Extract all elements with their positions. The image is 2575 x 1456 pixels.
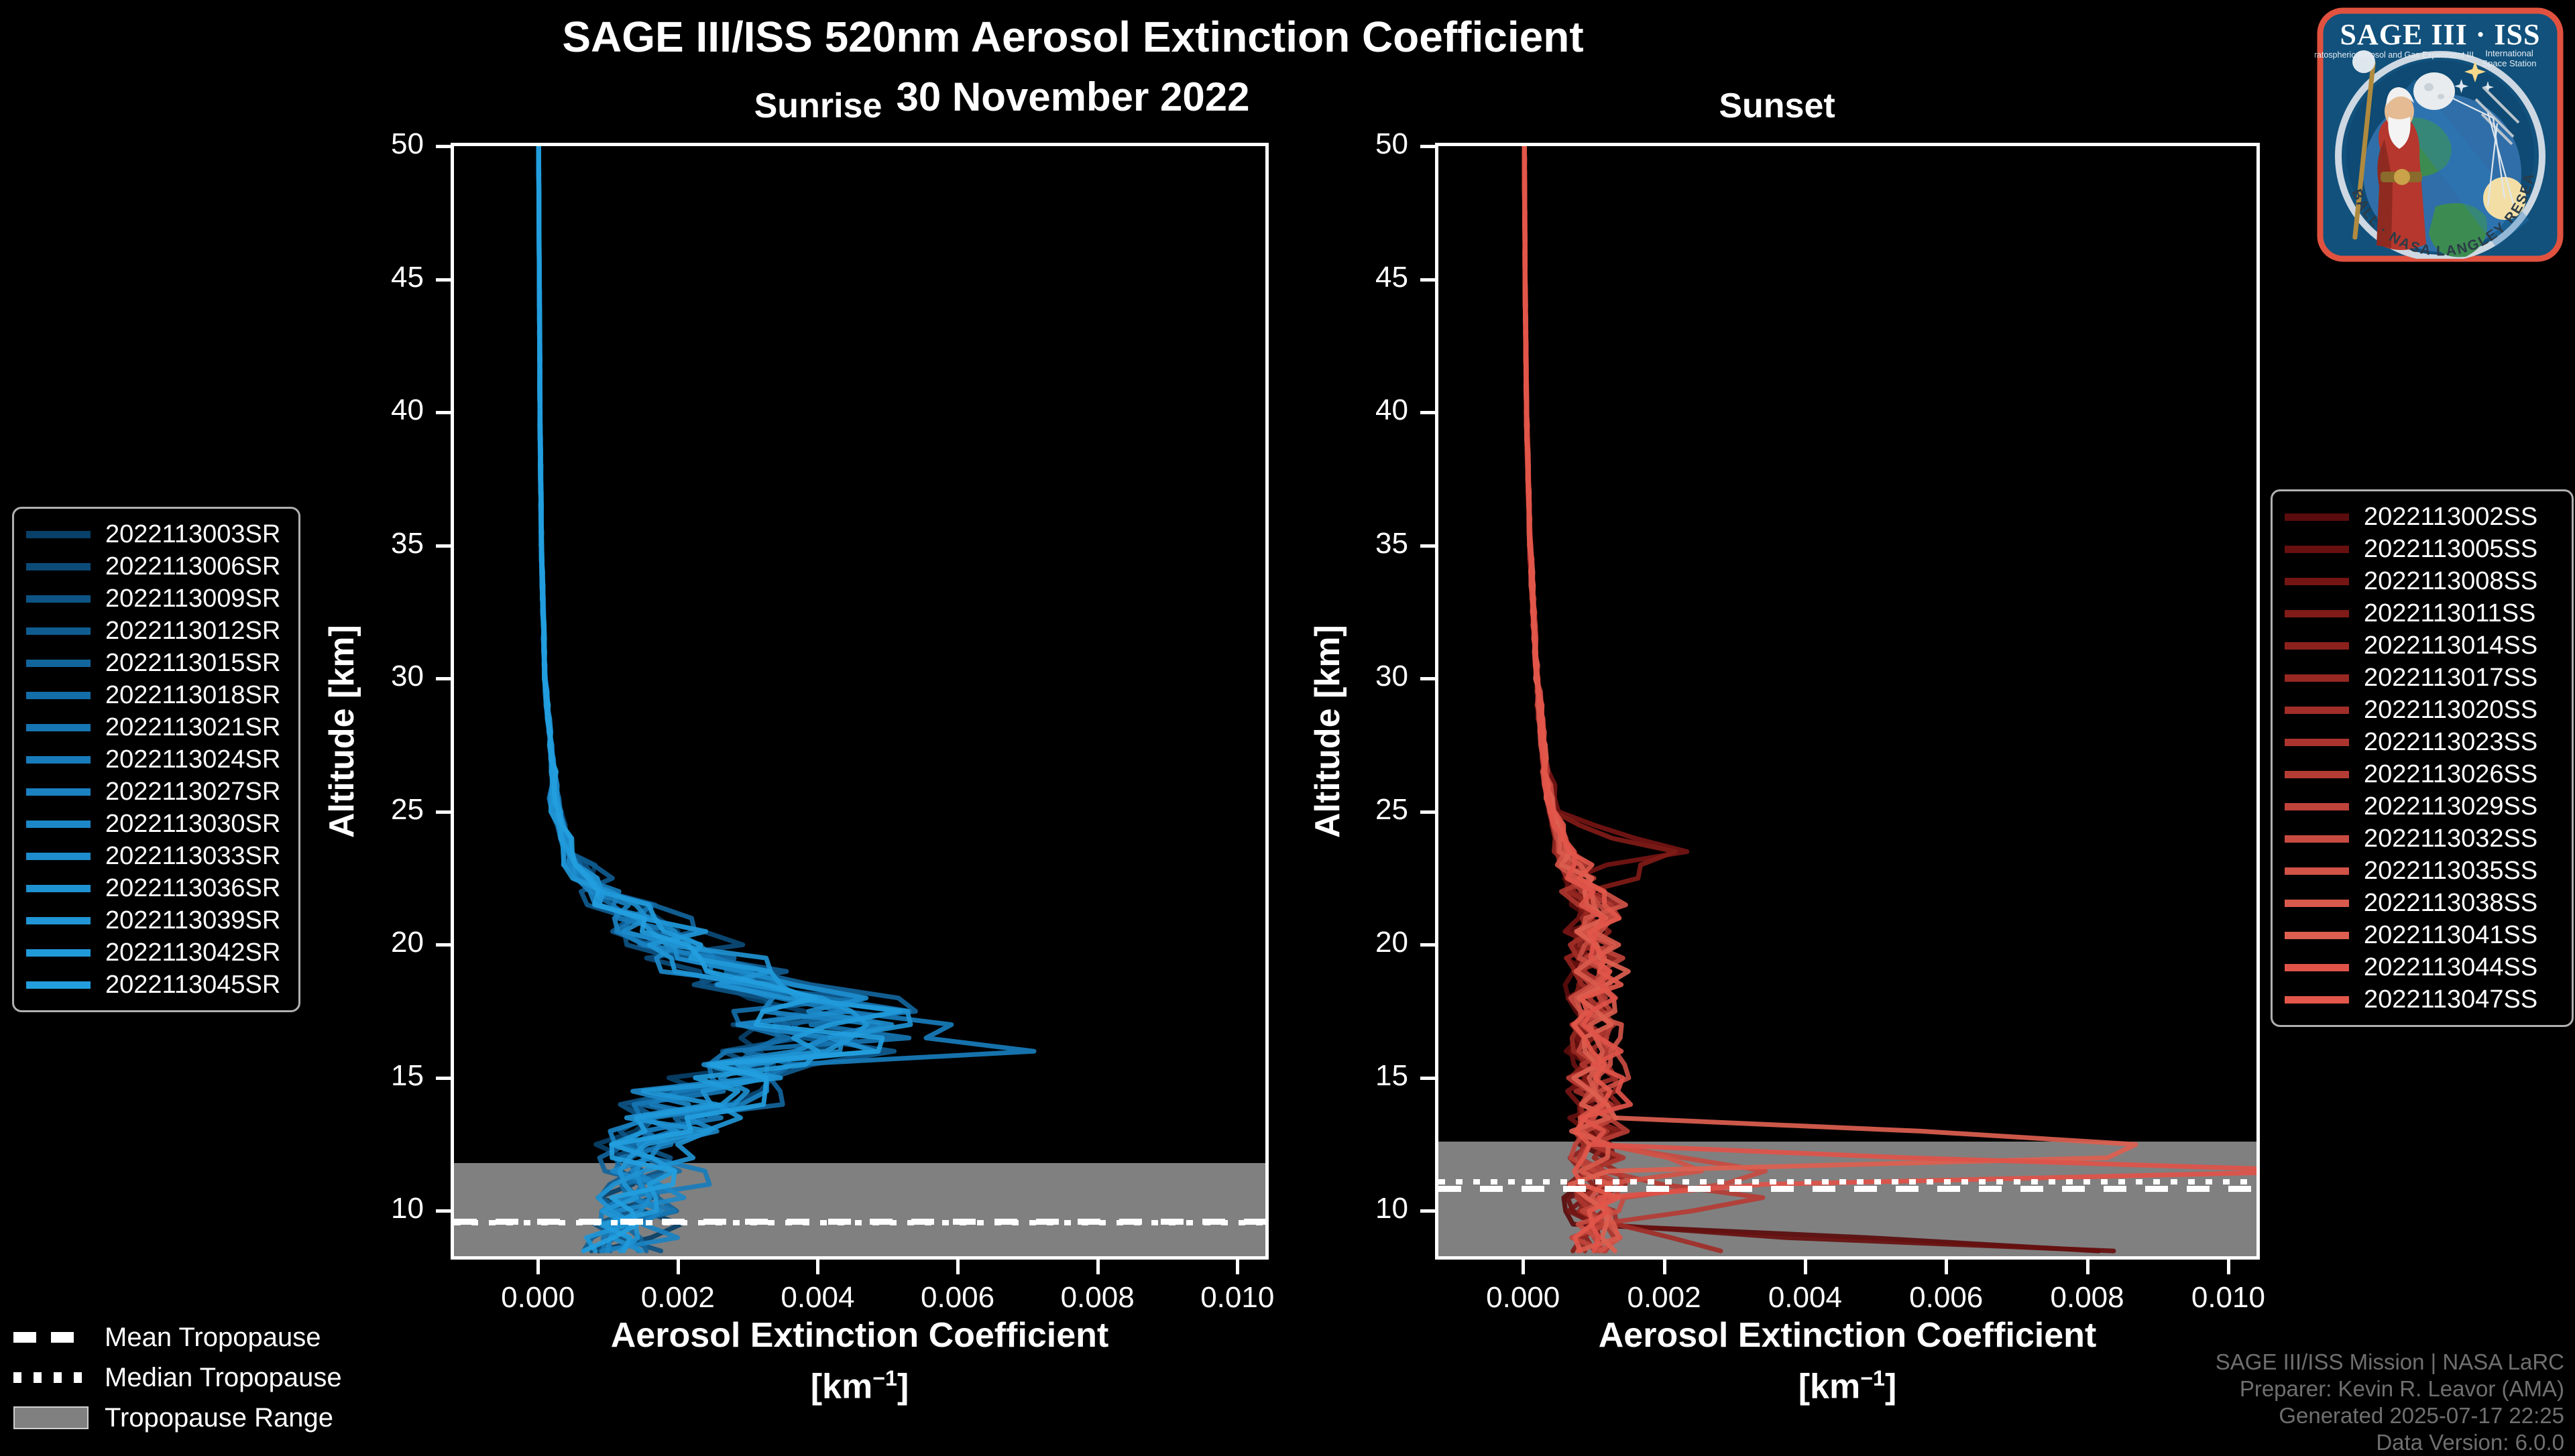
legend-item-mean-tropopause: Mean Tropopause: [13, 1317, 389, 1357]
y-tick-label: 35: [1308, 527, 1408, 560]
legend-event-label: 2022113036SR: [105, 874, 280, 903]
sunset-legend-item[interactable]: 2022113008SS: [2285, 565, 2560, 597]
sunset-legend-item[interactable]: 2022113011SS: [2285, 597, 2560, 629]
mean-tropopause-line: [1438, 1186, 2256, 1192]
profile-line: [538, 146, 1034, 1251]
y-tick-mark: [1420, 544, 1435, 548]
x-tick-label: 0.010: [2141, 1281, 2315, 1315]
legend-event-label: 2022113008SS: [2364, 567, 2537, 596]
page-title: SAGE III/ISS 520nm Aerosol Extinction Co…: [0, 12, 2146, 62]
sunrise-legend-item[interactable]: 2022113030SR: [26, 808, 286, 840]
sunset-legend-item[interactable]: 2022113044SS: [2285, 951, 2560, 983]
sunrise-legend-item[interactable]: 2022113018SR: [26, 679, 286, 711]
legend-color-swatch: [2285, 900, 2349, 907]
dashed-line-icon: [13, 1332, 89, 1343]
legend-event-label: 2022113027SR: [105, 778, 280, 806]
sunrise-legend: 2022113003SR2022113006SR2022113009SR2022…: [12, 507, 300, 1012]
sunrise-legend-item[interactable]: 2022113042SR: [26, 936, 286, 969]
x-tick-mark: [2227, 1260, 2230, 1274]
y-tick-mark: [436, 810, 451, 814]
legend-color-swatch: [2285, 932, 2349, 939]
sunset-yaxis-label: Altitude [km]: [1308, 625, 1348, 838]
svg-text:Space Station: Space Station: [2482, 58, 2537, 68]
y-tick-label: 45: [1308, 261, 1408, 294]
legend-event-label: 2022113018SR: [105, 681, 280, 710]
y-tick-mark: [436, 544, 451, 548]
sunrise-profile-curves: [454, 146, 1265, 1256]
svg-text:SAGE III · ISS: SAGE III · ISS: [2340, 18, 2541, 51]
x-tick-mark: [2086, 1260, 2090, 1274]
median-tropopause-line: [1438, 1179, 2256, 1185]
y-tick-mark: [436, 278, 451, 282]
sunrise-legend-item[interactable]: 2022113015SR: [26, 647, 286, 679]
y-tick-label: 45: [323, 261, 424, 294]
credit-line-generated: Generated 2025-07-17 22:25: [2216, 1402, 2564, 1429]
sunrise-plot-panel: [451, 143, 1269, 1260]
legend-color-swatch: [26, 885, 91, 892]
y-tick-mark: [436, 1209, 451, 1213]
legend-color-swatch: [2285, 610, 2349, 617]
legend-event-label: 2022113003SR: [105, 520, 280, 549]
sunrise-legend-item[interactable]: 2022113012SR: [26, 615, 286, 647]
y-tick-label: 15: [1308, 1059, 1408, 1093]
svg-text:Stratospheric Aerosol and Gas: Stratospheric Aerosol and Gas Experiment…: [2315, 50, 2474, 60]
y-tick-mark: [1420, 810, 1435, 814]
y-tick-label: 40: [1308, 393, 1408, 427]
profile-line: [1524, 146, 1721, 1251]
sunrise-legend-item[interactable]: 2022113009SR: [26, 583, 286, 615]
legend-event-label: 2022113038SS: [2364, 889, 2537, 918]
legend-event-label: 2022113026SS: [2364, 760, 2537, 789]
legend-color-swatch: [2285, 835, 2349, 843]
legend-event-label: 2022113020SS: [2364, 696, 2537, 725]
credit-line-preparer: Preparer: Kevin R. Leavor (AMA): [2216, 1376, 2564, 1402]
sunset-legend-item[interactable]: 2022113017SS: [2285, 662, 2560, 694]
legend-color-swatch: [2285, 996, 2349, 1004]
sunrise-xaxis-label: Aerosol Extinction Coefficient: [451, 1315, 1269, 1355]
sunrise-xaxis-unit: [km−1]: [451, 1366, 1269, 1406]
legend-event-label: 2022113005SS: [2364, 535, 2537, 564]
legend-event-label: 2022113029SS: [2364, 792, 2537, 821]
sunset-legend-item[interactable]: 2022113014SS: [2285, 629, 2560, 662]
legend-event-label: 2022113032SS: [2364, 825, 2537, 853]
y-tick-label: 40: [323, 393, 424, 427]
dotted-line-icon: [13, 1372, 89, 1383]
sunrise-legend-item[interactable]: 2022113027SR: [26, 776, 286, 808]
legend-label-tropopause-range: Tropopause Range: [105, 1403, 333, 1433]
sage-iii-iss-mission-patch-logo: BALL · NASA LANGLEY RESEARCH CENTER · TA…: [2315, 5, 2566, 264]
y-tick-mark: [1420, 1209, 1435, 1213]
tropopause-legend: Mean Tropopause Median Tropopause Tropop…: [13, 1317, 389, 1438]
sunset-plot-panel: [1435, 143, 2260, 1260]
shaded-band-icon: [13, 1406, 89, 1429]
legend-event-label: 2022113011SS: [2364, 599, 2535, 628]
legend-color-swatch: [26, 627, 91, 635]
profile-line: [1524, 146, 2256, 1251]
sunrise-legend-item[interactable]: 2022113039SR: [26, 904, 286, 936]
sunrise-legend-item[interactable]: 2022113021SR: [26, 711, 286, 743]
x-tick-mark: [1522, 1260, 1525, 1274]
y-tick-label: 10: [1308, 1192, 1408, 1225]
sunset-legend: 2022113002SS2022113005SS2022113008SS2022…: [2271, 489, 2574, 1027]
credit-line-mission: SAGE III/ISS Mission | NASA LaRC: [2216, 1349, 2564, 1376]
legend-event-label: 2022113014SS: [2364, 631, 2537, 660]
legend-event-label: 2022113021SR: [105, 713, 280, 742]
y-tick-mark: [436, 145, 451, 148]
legend-event-label: 2022113006SR: [105, 552, 280, 581]
legend-color-swatch: [2285, 964, 2349, 971]
legend-color-swatch: [2285, 707, 2349, 714]
legend-event-label: 2022113033SR: [105, 842, 280, 871]
x-tick-mark: [1804, 1260, 1807, 1274]
sunrise-legend-item[interactable]: 2022113006SR: [26, 550, 286, 583]
profile-line: [538, 146, 899, 1251]
x-tick-mark: [1236, 1260, 1239, 1274]
legend-event-label: 2022113017SS: [2364, 664, 2537, 692]
legend-event-label: 2022113009SR: [105, 585, 280, 613]
x-tick-mark: [1096, 1260, 1100, 1274]
legend-color-swatch: [26, 595, 91, 603]
x-tick-label: 0.010: [1150, 1281, 1324, 1315]
legend-color-swatch: [26, 949, 91, 957]
sunrise-panel-label: Sunrise: [630, 86, 1006, 126]
credit-line-dataversion: Data Version: 6.0.0: [2216, 1429, 2564, 1456]
legend-item-median-tropopause: Median Tropopause: [13, 1357, 389, 1398]
legend-color-swatch: [26, 531, 91, 538]
legend-event-label: 2022113002SS: [2364, 503, 2537, 532]
y-tick-label: 50: [1308, 127, 1408, 161]
legend-color-swatch: [2285, 642, 2349, 650]
svg-text:International: International: [2485, 48, 2533, 58]
legend-item-tropopause-range: Tropopause Range: [13, 1398, 389, 1438]
legend-event-label: 2022113023SS: [2364, 728, 2537, 757]
sunset-panel-label: Sunset: [1589, 86, 1965, 126]
legend-label-median-tropopause: Median Tropopause: [105, 1363, 342, 1393]
legend-color-swatch: [2285, 546, 2349, 553]
x-tick-mark: [816, 1260, 819, 1274]
sunrise-legend-item[interactable]: 2022113003SR: [26, 518, 286, 550]
y-tick-mark: [1420, 1077, 1435, 1080]
sunset-legend-item[interactable]: 2022113029SS: [2285, 790, 2560, 823]
y-tick-mark: [1420, 145, 1435, 148]
sunset-legend-item[interactable]: 2022113005SS: [2285, 533, 2560, 565]
sunrise-legend-item[interactable]: 2022113036SR: [26, 872, 286, 904]
legend-event-label: 2022113039SR: [105, 906, 280, 935]
y-tick-label: 10: [323, 1192, 424, 1225]
legend-event-label: 2022113041SS: [2364, 921, 2537, 950]
x-tick-mark: [1945, 1260, 1948, 1274]
profile-line: [1524, 146, 1763, 1251]
sunset-profile-curves: [1438, 146, 2256, 1256]
y-tick-label: 50: [323, 127, 424, 161]
sunset-xaxis-label: Aerosol Extinction Coefficient: [1435, 1315, 2260, 1355]
profile-line: [1524, 146, 1766, 1251]
legend-color-swatch: [26, 788, 91, 796]
legend-color-swatch: [26, 853, 91, 860]
legend-label-mean-tropopause: Mean Tropopause: [105, 1323, 321, 1353]
legend-event-label: 2022113012SR: [105, 617, 280, 646]
legend-color-swatch: [2285, 578, 2349, 585]
profile-line: [538, 146, 867, 1251]
sunset-legend-item[interactable]: 2022113023SS: [2285, 726, 2560, 758]
y-tick-label: 20: [323, 926, 424, 959]
legend-event-label: 2022113044SS: [2364, 953, 2537, 982]
x-tick-mark: [956, 1260, 960, 1274]
legend-color-swatch: [26, 692, 91, 699]
legend-color-swatch: [2285, 513, 2349, 521]
y-tick-mark: [1420, 278, 1435, 282]
x-tick-mark: [677, 1260, 680, 1274]
sunset-legend-item[interactable]: 2022113035SS: [2285, 855, 2560, 887]
legend-event-label: 2022113047SS: [2364, 985, 2537, 1014]
y-tick-mark: [1420, 943, 1435, 947]
legend-color-swatch: [2285, 771, 2349, 778]
y-tick-mark: [436, 943, 451, 947]
sunset-legend-item[interactable]: 2022113041SS: [2285, 919, 2560, 951]
y-tick-mark: [436, 1077, 451, 1080]
y-tick-label: 20: [1308, 926, 1408, 959]
legend-color-swatch: [26, 563, 91, 570]
legend-color-swatch: [26, 756, 91, 764]
legend-event-label: 2022113030SR: [105, 810, 280, 839]
sunset-plot-area: [1438, 146, 2256, 1256]
y-tick-mark: [1420, 677, 1435, 680]
legend-color-swatch: [26, 660, 91, 667]
sunset-legend-item[interactable]: 2022113047SS: [2285, 983, 2560, 1016]
legend-color-swatch: [2285, 739, 2349, 746]
sunrise-plot-area: [454, 146, 1265, 1256]
y-tick-label: 15: [323, 1059, 424, 1093]
legend-color-swatch: [2285, 674, 2349, 682]
x-tick-mark: [1663, 1260, 1666, 1274]
sunset-legend-item[interactable]: 2022113032SS: [2285, 823, 2560, 855]
legend-color-swatch: [26, 821, 91, 828]
legend-color-swatch: [26, 981, 91, 989]
credits-block: SAGE III/ISS Mission | NASA LaRC Prepare…: [2216, 1349, 2564, 1456]
sunset-legend-item[interactable]: 2022113002SS: [2285, 501, 2560, 533]
sunset-legend-item[interactable]: 2022113038SS: [2285, 887, 2560, 919]
x-tick-mark: [536, 1260, 540, 1274]
legend-color-swatch: [26, 724, 91, 731]
legend-event-label: 2022113035SS: [2364, 857, 2537, 886]
legend-event-label: 2022113015SR: [105, 649, 280, 678]
legend-color-swatch: [26, 917, 91, 924]
sunrise-yaxis-label: Altitude [km]: [322, 625, 362, 838]
y-tick-mark: [1420, 411, 1435, 414]
legend-color-swatch: [2285, 803, 2349, 810]
legend-event-label: 2022113042SR: [105, 938, 280, 967]
sunset-xaxis-unit: [km−1]: [1435, 1366, 2260, 1406]
sunset-legend-item[interactable]: 2022113026SS: [2285, 758, 2560, 790]
sunrise-legend-item[interactable]: 2022113024SR: [26, 743, 286, 776]
legend-event-label: 2022113045SR: [105, 971, 280, 999]
legend-color-swatch: [2285, 867, 2349, 875]
mean-tropopause-line: [454, 1219, 1265, 1225]
y-tick-mark: [436, 677, 451, 680]
sunrise-legend-item[interactable]: 2022113033SR: [26, 840, 286, 872]
y-tick-label: 35: [323, 527, 424, 560]
y-tick-mark: [436, 411, 451, 414]
sunrise-legend-item[interactable]: 2022113045SR: [26, 969, 286, 1001]
legend-event-label: 2022113024SR: [105, 745, 280, 774]
sunset-legend-item[interactable]: 2022113020SS: [2285, 694, 2560, 726]
